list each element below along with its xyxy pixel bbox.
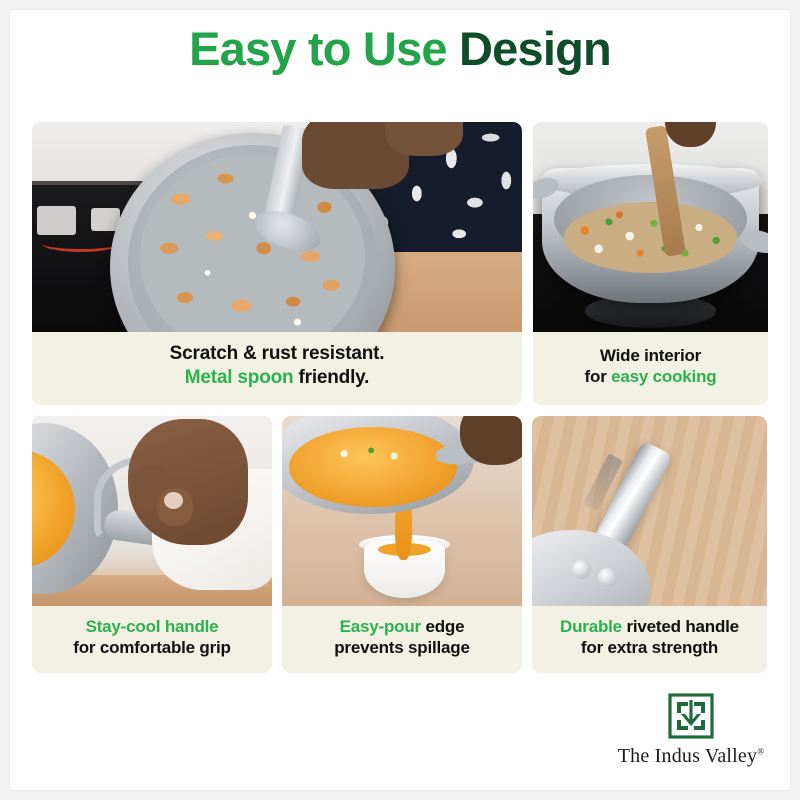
brand-name-text: The Indus Valley <box>618 745 757 767</box>
feature-caption-easy-pour-edge: Easy-pour edge prevents spillage <box>282 606 522 674</box>
feature-card-grid: Scratch & rust resistant. Metal spoon fr… <box>32 122 768 673</box>
feature-card-easy-pour-edge[interactable]: Easy-pour edge prevents spillage <box>282 416 522 674</box>
caption-line-2: for easy cooking <box>539 366 762 388</box>
caption-segment: for comfortable grip <box>73 638 231 657</box>
product-feature-infographic: Easy to Use Design <box>0 0 800 800</box>
feature-image-riveted-handle <box>532 416 767 606</box>
feature-caption-wide-interior: Wide interior for easy cooking <box>533 332 768 405</box>
feature-card-wide-interior[interactable]: Wide interior for easy cooking <box>533 122 768 405</box>
cooktop-knob-1 <box>37 206 76 235</box>
feature-row-top: Scratch & rust resistant. Metal spoon fr… <box>32 122 768 405</box>
trademark-symbol: ® <box>757 746 764 756</box>
caption-line-1: Scratch & rust resistant. <box>38 342 516 366</box>
feature-card-durable-riveted-handle[interactable]: Durable riveted handle for extra strengt… <box>532 416 767 674</box>
caption-line-2: for extra strength <box>538 637 761 659</box>
caption-line-1: Easy-pour edge <box>288 616 516 638</box>
caption-line-2: prevents spillage <box>288 637 516 659</box>
caption-segment-highlight: Durable <box>560 617 622 636</box>
feature-card-scratch-rust-resistant[interactable]: Scratch & rust resistant. Metal spoon fr… <box>32 122 522 405</box>
caption-segment-highlight: Stay-cool handle <box>86 617 219 636</box>
caption-line-1: Wide interior <box>539 345 762 367</box>
cook-hand-right <box>385 122 463 156</box>
mixed-vegetables <box>564 202 738 273</box>
feature-caption-scratch-rust-resistant: Scratch & rust resistant. Metal spoon fr… <box>32 332 522 405</box>
caption-segment: Wide interior <box>600 346 701 365</box>
feature-image-kadai-vegetables <box>533 122 768 332</box>
page-title: Easy to Use Design <box>0 22 800 76</box>
feature-image-pouring-curry <box>282 416 522 606</box>
brand-name: The Indus Valley® <box>616 745 766 768</box>
feature-caption-durable-riveted-handle: Durable riveted handle for extra strengt… <box>532 606 767 674</box>
curry-garnish <box>325 438 421 468</box>
brand-logo: The Indus Valley® <box>616 692 766 768</box>
caption-segment: edge <box>421 617 464 636</box>
fingernail <box>164 492 183 509</box>
caption-segment: friendly. <box>293 367 369 388</box>
caption-segment: riveted handle <box>622 617 739 636</box>
feature-image-handle-grip <box>32 416 272 606</box>
rivet-1 <box>572 560 591 579</box>
caption-segment: for extra strength <box>581 638 718 657</box>
caption-segment-highlight: Easy-pour <box>340 617 421 636</box>
feature-row-bottom: Stay-cool handle for comfortable grip <box>32 416 768 674</box>
page-title-part-1: Easy to Use <box>189 22 447 75</box>
caption-segment-highlight: easy cooking <box>611 367 716 386</box>
feature-card-stay-cool-handle[interactable]: Stay-cool handle for comfortable grip <box>32 416 272 674</box>
feature-caption-stay-cool-handle: Stay-cool handle for comfortable grip <box>32 606 272 674</box>
caption-segment: for <box>585 367 612 386</box>
caption-segment-highlight: Metal spoon <box>185 367 294 388</box>
caption-segment: prevents spillage <box>334 638 470 657</box>
rivet-2 <box>598 568 617 587</box>
caption-line-2: for comfortable grip <box>38 637 266 659</box>
caption-line-1: Durable riveted handle <box>538 616 761 638</box>
indus-valley-emblem-icon <box>667 692 715 740</box>
caption-segment: Scratch & rust resistant. <box>170 343 385 364</box>
page-title-part-2: Design <box>459 22 611 75</box>
feature-image-pasta-pan <box>32 122 522 332</box>
caption-line-2: Metal spoon friendly. <box>38 366 516 390</box>
caption-line-1: Stay-cool handle <box>38 616 266 638</box>
